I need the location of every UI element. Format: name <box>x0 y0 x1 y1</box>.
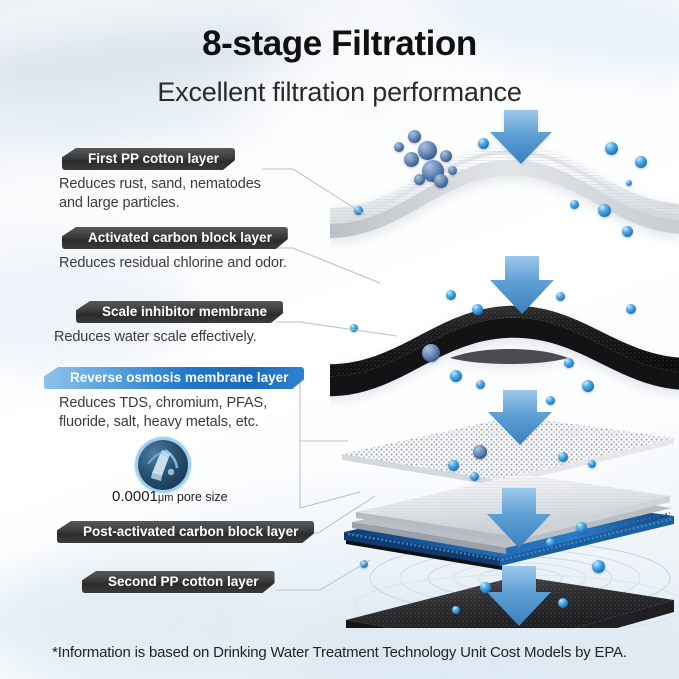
stage-description-activated-carbon-block: Reduces residual chlorine and odor. <box>59 254 339 273</box>
pp-cotton-sheet-top <box>330 146 679 238</box>
stage-badge-second-pp-cotton[interactable]: Second PP cotton layer <box>82 571 275 593</box>
stage-description-scale-inhibitor-membrane: Reduces water scale effectively. <box>54 328 334 347</box>
stage-badge-post-activated-carbon-block[interactable]: Post-activated carbon block layer <box>57 521 314 543</box>
stage-description-first-pp-cotton: Reduces rust, sand, nematodes and large … <box>59 175 309 213</box>
flow-arrow <box>490 256 554 314</box>
stage-description-reverse-osmosis-membrane: Reduces TDS, chromium, PFAS, fluoride, s… <box>59 394 309 432</box>
stage-badge-reverse-osmosis-membrane[interactable]: Reverse osmosis membrane layer <box>44 367 304 389</box>
page-subtitle: Excellent filtration performance <box>0 77 679 108</box>
membrane-pore-icon <box>138 440 188 490</box>
pore-size-label: 0.0001μm pore size <box>112 488 228 505</box>
footer-note: *Information is based on Drinking Water … <box>0 644 679 661</box>
infographic-canvas: 8-stage Filtration Excellent filtration … <box>0 0 679 679</box>
stage-badge-scale-inhibitor-membrane[interactable]: Scale inhibitor membrane <box>76 301 283 323</box>
pore-size-suffix: pore size <box>173 490 227 504</box>
stage-badge-first-pp-cotton[interactable]: First PP cotton layer <box>62 148 235 170</box>
pore-size-unit: μm <box>158 492 174 504</box>
page-title: 8-stage Filtration <box>0 24 679 64</box>
stage-badge-activated-carbon-block[interactable]: Activated carbon block layer <box>62 227 288 249</box>
water-surface-ripple <box>330 108 679 628</box>
pore-size-value: 0.0001 <box>112 488 158 505</box>
carbon-block-sheet <box>330 306 679 396</box>
filter-layers-illustration <box>330 108 679 628</box>
